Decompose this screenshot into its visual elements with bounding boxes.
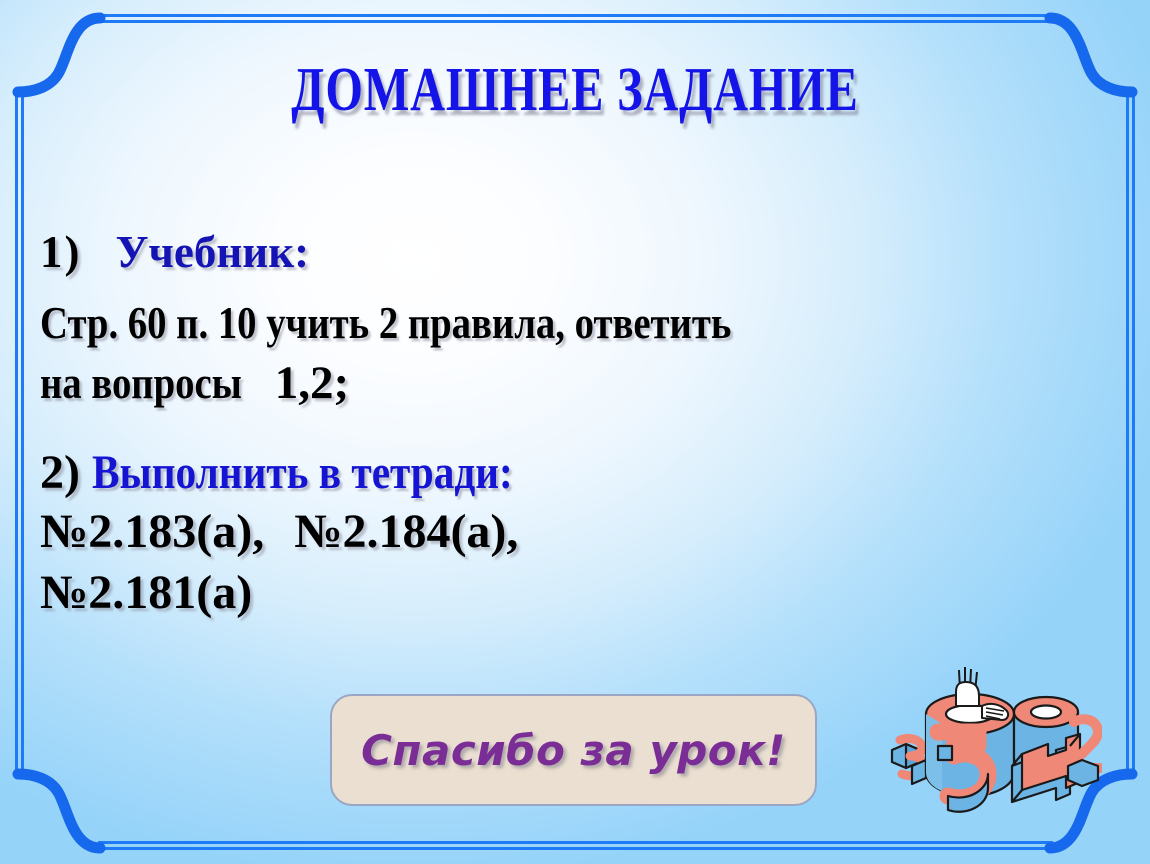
page-title: ДОМАШНЕЕ ЗАДАНИЕ	[127, 58, 1024, 122]
item1-heading: Учебник:	[116, 227, 310, 277]
item2-number: 2)	[40, 446, 80, 499]
block-numbers-clipart	[886, 654, 1102, 824]
item1-detail-text-1: Стр. 60 п. 10 учить 2 правила, ответить	[40, 294, 731, 353]
thanks-button[interactable]: Спасибо за урок!	[330, 694, 817, 806]
frame-rule-bottom	[98, 841, 1053, 850]
slide-canvas: ДОМАШНЕЕ ЗАДАНИЕ 1)Учебник: Стр. 60 п. 1…	[0, 0, 1150, 864]
task-reference-2-183: №2.183(а),	[40, 505, 264, 558]
item2-heading: Выполнить в тетради:	[92, 444, 513, 503]
frame-rule-top	[98, 14, 1053, 23]
assignment-body: 1)Учебник: Стр. 60 п. 10 учить 2 правила…	[40, 226, 1115, 623]
assignment-item-1-detail-line-1: Стр. 60 п. 10 учить 2 правила, ответить	[40, 294, 1115, 353]
assignment-item-2-tasks-line-1: №2.183(а),№2.184(а),	[40, 502, 1115, 562]
task-reference-2-181: №2.181(а)	[40, 566, 252, 619]
frame-corner-top-right	[1046, 12, 1124, 90]
item1-question-numbers: 1,2;	[275, 353, 349, 414]
thanks-button-label: Спасибо за урок!	[361, 726, 786, 775]
frame-corner-top-left	[12, 12, 90, 90]
assignment-item-2-heading-row: 2) Выполнить в тетради:	[40, 444, 1115, 503]
assignment-item-2-tasks-line-2: №2.181(а)	[40, 563, 1115, 623]
item1-detail-text-2: на вопросы	[40, 354, 242, 413]
frame-rule-right	[1126, 90, 1135, 774]
frame-rule-left	[15, 90, 24, 774]
assignment-item-1-detail-line-2: на вопросы 1,2;	[40, 353, 1115, 414]
item1-number: 1)	[40, 227, 82, 277]
digit-3	[892, 738, 926, 784]
task-reference-2-184: №2.184(а),	[294, 505, 518, 558]
assignment-item-1-heading-row: 1)Учебник:	[40, 226, 1115, 278]
